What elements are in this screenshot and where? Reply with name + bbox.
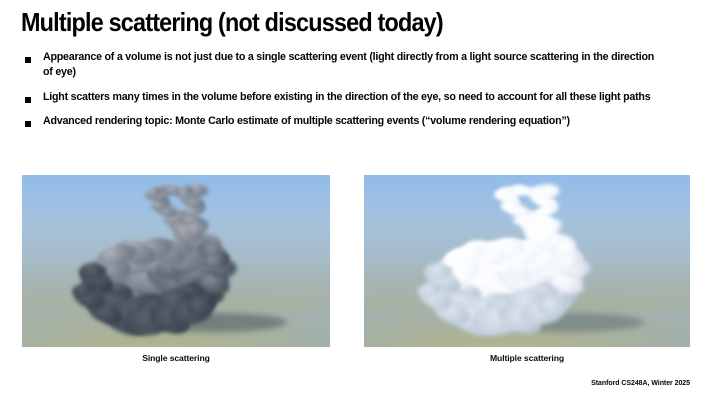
- figure-caption-single: Single scattering: [22, 352, 330, 364]
- figure-multiple-scattering: [364, 175, 690, 347]
- list-item-label: Appearance of a volume is not just due t…: [43, 50, 663, 81]
- volume-bunny-dark: [22, 175, 330, 347]
- page-title: Multiple scattering (not discussed today…: [21, 7, 615, 37]
- slide-canvas: Multiple scattering (not discussed today…: [0, 0, 711, 400]
- slide-footer: Stanford CS248A, Winter 2025: [591, 379, 690, 389]
- list-item: Appearance of a volume is not just due t…: [22, 50, 692, 81]
- figure-single-scattering: [22, 175, 330, 347]
- square-bullet-icon: [25, 97, 31, 103]
- square-bullet-icon: [25, 57, 31, 63]
- render-scene: [364, 175, 690, 347]
- list-item-label: Light scatters many times in the volume …: [43, 90, 663, 105]
- list-item: Advanced rendering topic: Monte Carlo es…: [22, 114, 692, 129]
- square-bullet-icon: [25, 121, 31, 127]
- bullet-list: Appearance of a volume is not just due t…: [22, 50, 692, 139]
- volume-bunny-white: [364, 175, 690, 347]
- render-scene: [22, 175, 330, 347]
- figure-caption-multiple: Multiple scattering: [364, 352, 690, 364]
- list-item-label: Advanced rendering topic: Monte Carlo es…: [43, 114, 663, 129]
- list-item: Light scatters many times in the volume …: [22, 90, 692, 105]
